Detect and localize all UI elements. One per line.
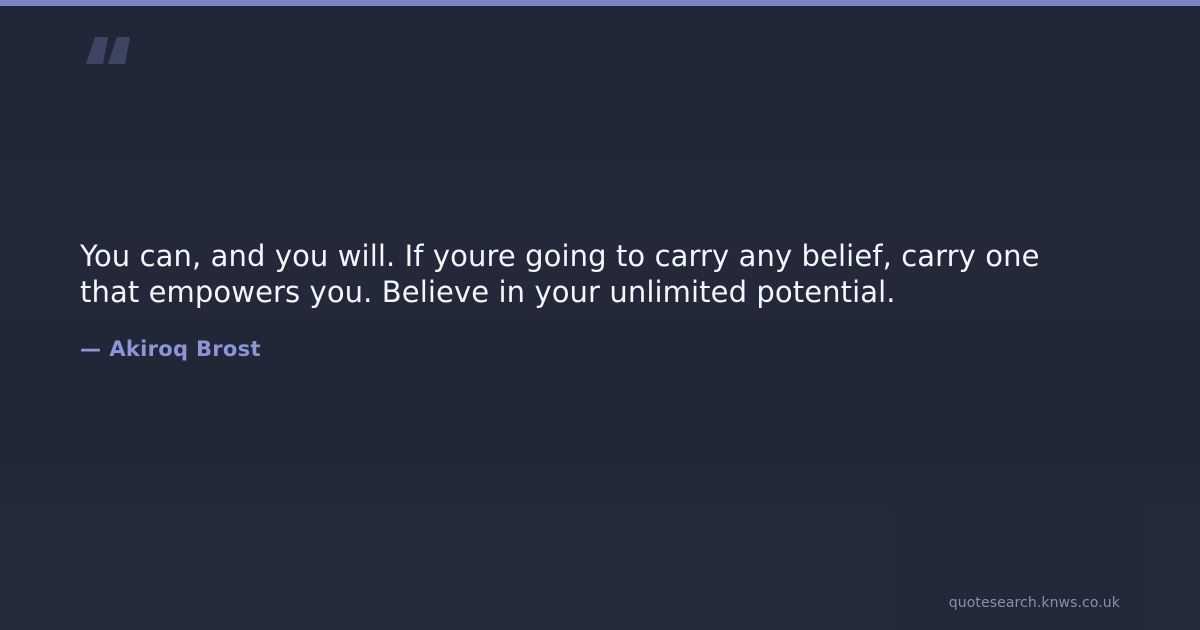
top-accent-bar bbox=[0, 0, 1200, 6]
background-band bbox=[0, 6, 1200, 160]
quote-block: You can, and you will. If youre going to… bbox=[80, 238, 1080, 362]
quote-attribution: —Akiroq Brost bbox=[80, 336, 1080, 362]
quote-text: You can, and you will. If youre going to… bbox=[80, 238, 1080, 310]
attribution-author: Akiroq Brost bbox=[109, 337, 260, 361]
double-quote-open-icon bbox=[78, 18, 138, 88]
source-url-label: quotesearch.knws.co.uk bbox=[949, 594, 1120, 612]
quote-card: You can, and you will. If youre going to… bbox=[0, 0, 1200, 630]
attribution-dash: — bbox=[80, 336, 101, 362]
